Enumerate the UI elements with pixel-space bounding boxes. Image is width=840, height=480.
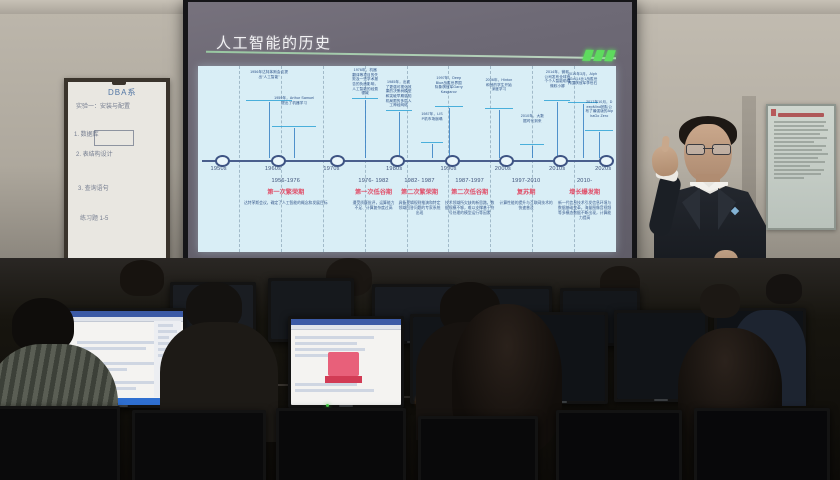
tick-label-1990s: 1990s (440, 166, 456, 172)
note-1976-leader-line (365, 100, 366, 158)
browser-window (291, 319, 401, 405)
whiteboard-title: DBA系 (108, 88, 136, 98)
era-range: 1956-1976 (223, 178, 348, 184)
note-2016: 2016年3月，AlphaGo以4比1战胜世界围棋冠军李世石 (568, 72, 598, 86)
era-range: 1982- 1987 (399, 178, 441, 184)
slide-title: 人工智能的历史 (216, 32, 332, 53)
note-2014-leader-line (557, 102, 558, 158)
tick-label-2010s: 2010s (549, 166, 565, 172)
whiteboard-note-4: 练习题 1-5 (80, 216, 152, 224)
note-1959-underline (272, 126, 316, 127)
note-1987: 1987年，LISP机市场崩塌 (421, 112, 443, 121)
monitor-back (276, 408, 406, 480)
era-block-5: 2010-增长爆发期新一代信息技术引发信息环境与数据基础变革，海量图像音视频等多… (557, 178, 611, 220)
note-1997: 1997年，Deep Blue战胜世界国际象棋冠军Garry Kasparov (435, 76, 463, 95)
note-1959: 1959年，Arthur Samuel 提出了机器学习 (272, 96, 316, 105)
era-block-4: 1997-2010复苏期计算性能的提升与互联网技术的快速普及 (499, 178, 553, 211)
note-1976: 1976年，机器翻译等项目的失败及一些学术报告的负面影响，人工智能的经费骤减 (352, 68, 378, 96)
whiteboard-note-1: 1. 数据库 (74, 132, 99, 140)
note-1956: 1956年达特茅斯会议提出“人工智能” (246, 70, 292, 79)
era-description: 具备逻辑规则推演和特定领域回答问题的专家系统出现 (399, 201, 441, 216)
note-1985-underline (386, 110, 412, 111)
whiteboard-note-3: 3. 查询语句 (78, 186, 154, 194)
classroom-photo: DBA系 实验一：安装与配置 1. 数据库 2. 表结构设计 3. 查询语句 练… (0, 0, 840, 480)
tick-label-1970s: 1970s (323, 166, 339, 172)
note-2010-underline (520, 144, 544, 145)
student-head (120, 260, 164, 296)
tick-label-1960s: 1960s (265, 166, 281, 172)
era-block-3: 1987-1997第二次低谷期技术领域所欠缺的新思路，数据规模不够，难以支撑基于… (445, 178, 495, 216)
note-2006-leader-line (499, 110, 500, 158)
note-2006: 2006年，Hinton和他的学生开始深度学习 (485, 78, 513, 92)
era-name: 增长爆发期 (557, 189, 611, 197)
monitor-back (694, 408, 830, 480)
note-2017: 2017年10月，DeepMind团队公布了最强版的AlphaGo Zero (585, 100, 613, 119)
era-description: 达特茅斯会议，确定了人工智能的概念和发展目标 (223, 201, 348, 206)
whiteboard-note-0: 实验一：安装与配置 (76, 104, 160, 112)
whiteboard-note-2: 2. 表结构设计 (76, 152, 156, 160)
whiteboard-diagram-box (94, 130, 134, 146)
monitor-back (556, 410, 682, 480)
tick-label-2000s: 2000s (495, 166, 511, 172)
note-1959-leader-line (294, 128, 295, 158)
era-range: 1976- 1982 (353, 178, 395, 184)
monitor-back (132, 410, 266, 480)
era-name: 第二次繁荣期 (399, 189, 441, 197)
note-2017-underline (585, 130, 613, 131)
note-2010-leader-line (532, 146, 533, 158)
slide-title-rule (206, 51, 616, 59)
note-2017-leader-line (599, 132, 600, 158)
note-1987-underline (421, 142, 443, 143)
era-range: 1987-1997 (445, 178, 495, 184)
era-block-1: 1976- 1982第一次低谷期遭受质疑批评，运算能力不足、计算复杂度过高 (353, 178, 395, 211)
monitor-with-browser (288, 316, 404, 408)
monitor-back (0, 406, 120, 480)
note-1985: 1985年，出现了更强可视化效果的决策树模型和突破早期感知机局限的多层人工神经网… (386, 80, 412, 108)
green-indicator-light (326, 404, 329, 407)
note-2016-leader-line (583, 104, 584, 158)
note-1985-leader-line (399, 112, 400, 158)
era-description: 新一代信息技术引发信息环境与数据基础变革，海量图像音视频等多模态数据不断出现，计… (557, 201, 611, 221)
era-name: 第一次低谷期 (353, 189, 395, 197)
era-description: 技术领域所欠缺的新思路，数据规模不够，难以支撑基于符号处理的模型运行等因素 (445, 201, 495, 216)
era-name: 第一次繁荣期 (223, 189, 348, 197)
era-range: 2010- (557, 178, 611, 184)
note-1956-leader-line (269, 102, 270, 158)
page-banner (325, 376, 362, 383)
page-image (328, 352, 359, 376)
whiteboard-clip (112, 78, 126, 85)
note-2014-underline (544, 100, 570, 101)
era-range: 1997-2010 (499, 178, 553, 184)
ai-history-timeline: 1956年达特茅斯会议提出“人工智能”1959年，Arthur Samuel 提… (198, 66, 616, 252)
era-name: 复苏期 (499, 189, 553, 197)
note-1997-leader-line (449, 108, 450, 158)
eyeglasses-icon (686, 144, 731, 153)
note-2010: 2010年，大数据时代到来 (520, 114, 544, 123)
note-2006-underline (485, 108, 513, 109)
note-1997-underline (435, 106, 463, 107)
left-whiteboard: DBA系 实验一：安装与配置 1. 数据库 2. 表结构设计 3. 查询语句 练… (64, 78, 170, 262)
era-block-0: 1956-1976第一次繁荣期达特茅斯会议，确定了人工智能的概念和发展目标 (223, 178, 348, 206)
classroom-foreground (0, 258, 840, 480)
monitor-back (418, 416, 538, 480)
era-name: 第二次低谷期 (445, 189, 495, 197)
tick-label-1950s: 1950s (211, 166, 227, 172)
era-block-2: 1982- 1987第二次繁荣期具备逻辑规则推演和特定领域回答问题的专家系统出现 (399, 178, 441, 216)
note-1976-underline (352, 98, 378, 99)
tick-label-1980s: 1980s (386, 166, 402, 172)
era-description: 遭受质疑批评，运算能力不足、计算复杂度过高 (353, 201, 395, 211)
projection-screen: 人工智能的历史 1956年达特茅斯会议提出“人工智能”1959年，Arthur … (188, 2, 632, 274)
green-accent-marks (584, 50, 614, 61)
era-description: 计算性能的提升与互联网技术的快速普及 (499, 201, 553, 211)
note-1987-leader-line (432, 144, 433, 158)
student-head (766, 274, 802, 304)
tick-label-2020s: 2020s (595, 166, 611, 172)
student-head (700, 284, 740, 318)
